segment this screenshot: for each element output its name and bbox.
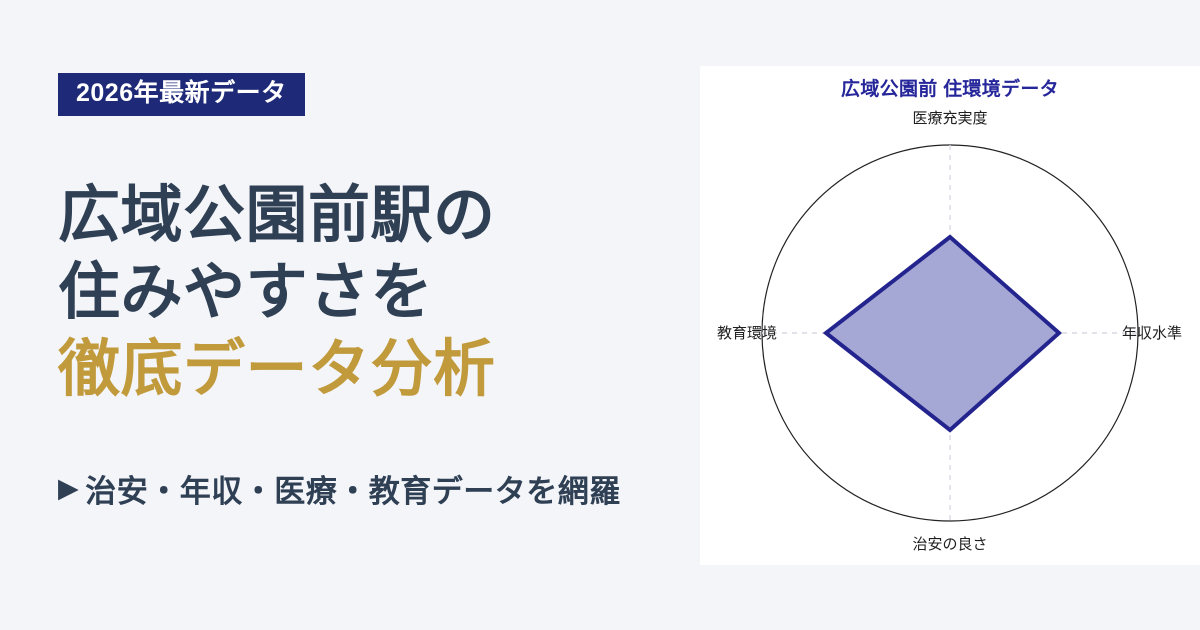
radar-chart-panel: 広域公園前 住環境データ 医療充実度 年収水準 治安の良さ 教育環境 [700,66,1200,565]
text-column: 2026年最新データ 広域公園前駅の 住みやすさを 徹底データ分析 ▶ 治安・年… [58,0,698,630]
radar-chart-svg: 医療充実度 年収水準 治安の良さ 教育環境 [700,66,1200,565]
triangle-right-icon: ▶ [58,475,79,502]
radar-axis-label-left: 教育環境 [717,324,777,342]
radar-axis-label-right: 年収水準 [1122,325,1182,342]
subtitle: ▶ 治安・年収・医療・教育データを網羅 [58,466,621,511]
headline-line-1: 広域公園前駅の [58,178,698,255]
subtitle-text: 治安・年収・医療・教育データを網羅 [85,466,621,511]
radar-axis-label-bottom: 治安の良さ [912,536,987,553]
headline-line-3-accent: 徹底データ分析 [58,332,698,409]
radar-axis-label-top: 医療充実度 [912,110,987,127]
data-year-badge: 2026年最新データ [58,73,305,116]
radar-data-polygon [826,237,1059,430]
headline-line-2: 住みやすさを [58,255,698,332]
ogp-card: 2026年最新データ 広域公園前駅の 住みやすさを 徹底データ分析 ▶ 治安・年… [0,0,1200,630]
page-title: 広域公園前駅の 住みやすさを 徹底データ分析 [58,178,698,409]
